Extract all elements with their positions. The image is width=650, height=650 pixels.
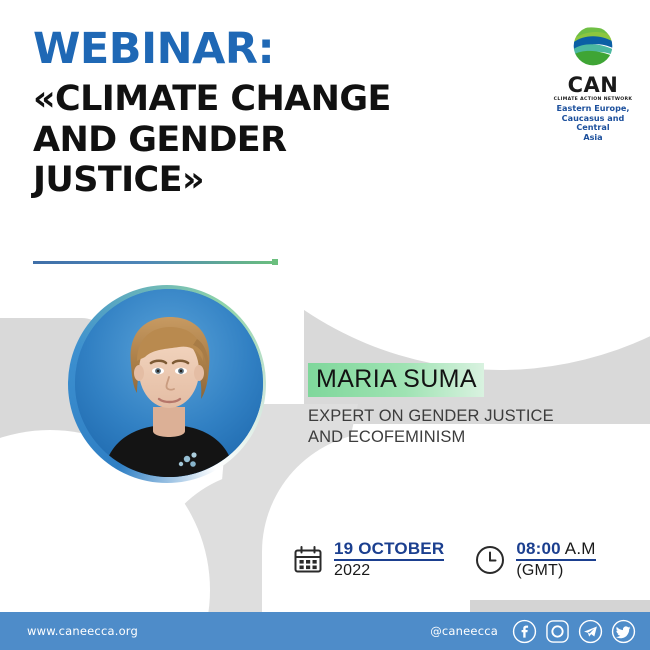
facebook-icon[interactable] [512,619,537,644]
clock-icon [474,544,506,576]
footer-social-group: @caneecca [430,619,636,644]
title-line-3: JUSTICE» [33,160,391,201]
twitter-icon[interactable] [611,619,636,644]
logo-region: Eastern Europe, Caucasus and Central Asi… [545,104,641,142]
can-globe-icon [565,18,621,74]
logo-region-line-3: Asia [545,133,641,143]
speaker-block: MARIA SUMA EXPERT ON GENDER JUSTICE AND … [308,363,554,447]
calendar-icon [292,544,324,576]
event-time-value: 08:00 [516,539,560,558]
event-date-year: 2022 [334,563,444,580]
webinar-poster: CAN CLIMATE ACTION NETWORK Eastern Europ… [0,0,650,650]
event-date-text: 19 OCTOBER 2022 [334,540,444,580]
event-time: 08:00 A.M (GMT) [474,540,595,580]
event-time-text: 08:00 A.M (GMT) [516,540,595,580]
event-time-ampm: A.M [561,539,596,558]
event-date: 19 OCTOBER 2022 [292,540,444,580]
title-line-1: «CLIMATE CHANGE [33,79,391,120]
footer-bar: www.caneecca.org @caneecca [0,612,650,650]
divider-end-dot [272,259,278,265]
speaker-role: EXPERT ON GENDER JUSTICE AND ECOFEMINISM [308,406,554,447]
webinar-kicker: WEBINAR: [33,28,391,71]
telegram-icon[interactable] [578,619,603,644]
headline-block: WEBINAR: «CLIMATE CHANGE AND GENDER JUST… [33,28,391,201]
footer-website[interactable]: www.caneecca.org [27,624,138,638]
instagram-icon[interactable] [545,619,570,644]
logo-acronym: CAN [545,75,641,96]
event-time-primary: 08:00 A.M [516,540,595,561]
portrait-illustration [75,289,263,477]
can-logo: CAN CLIMATE ACTION NETWORK Eastern Europ… [545,18,641,142]
footer-handle: @caneecca [430,624,498,638]
logo-region-line-2: Caucasus and Central [545,114,641,133]
event-timezone: (GMT) [516,563,595,580]
event-meta-row: 19 OCTOBER 2022 08:00 A.M (GMT) [292,540,596,580]
event-date-primary: 19 OCTOBER [334,540,444,561]
speaker-name: MARIA SUMA [308,363,484,397]
logo-tagline: CLIMATE ACTION NETWORK [545,97,641,102]
speaker-role-line-2: AND ECOFEMINISM [308,427,554,448]
gradient-divider [33,261,276,264]
page-title: «CLIMATE CHANGE AND GENDER JUSTICE» [33,79,391,201]
avatar [68,285,266,483]
title-line-2: AND GENDER [33,120,391,161]
speaker-role-line-1: EXPERT ON GENDER JUSTICE [308,406,554,427]
avatar-photo [75,289,263,477]
